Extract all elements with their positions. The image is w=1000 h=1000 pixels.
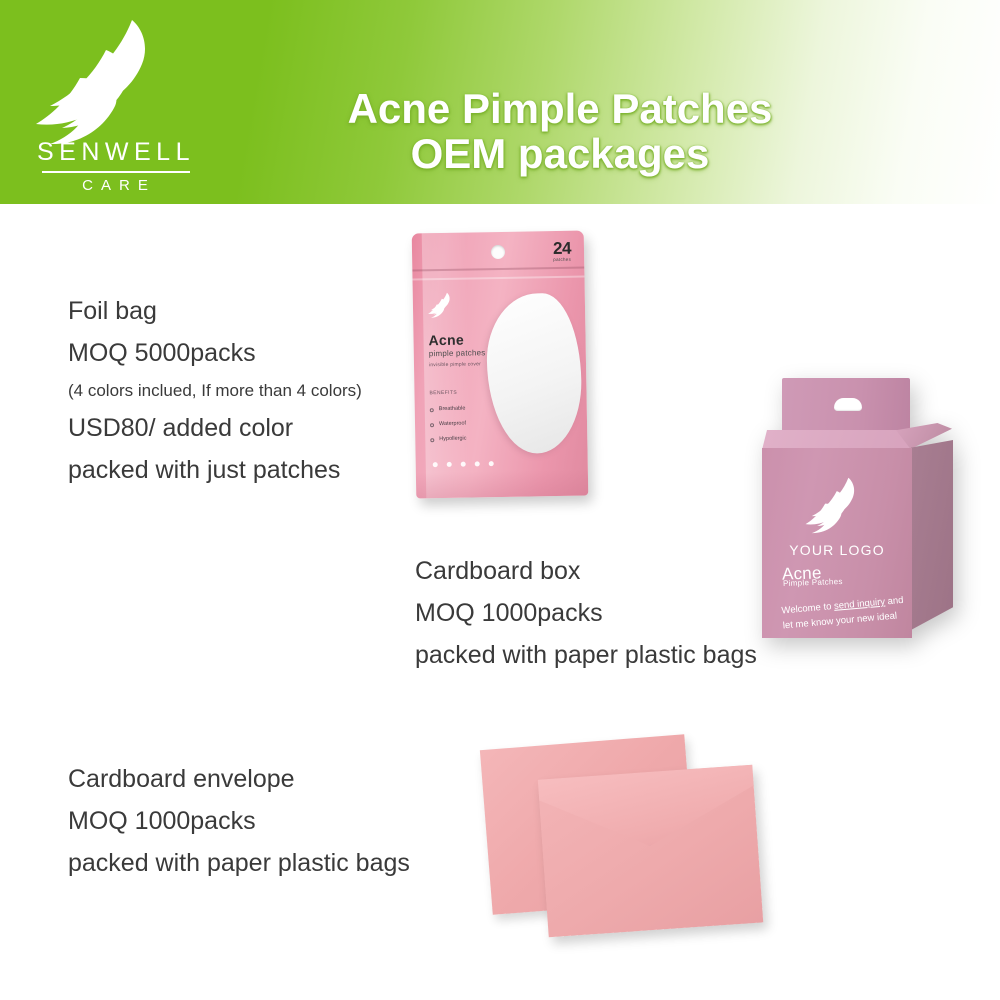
box-hang-tab xyxy=(782,378,910,436)
box-top-face xyxy=(762,430,917,450)
cardboard-box-product-image: YOUR LOGO Acne Pimple Patches Welcome to… xyxy=(748,378,964,646)
send-inquiry-link[interactable]: send inquiry xyxy=(834,596,886,611)
list-item: Foil bag xyxy=(68,290,362,332)
bullet-icon xyxy=(430,438,434,442)
list-item: MOQ 5000packs xyxy=(68,332,362,374)
list-item: packed with paper plastic bags xyxy=(68,842,410,884)
list-item: MOQ 1000packs xyxy=(68,800,410,842)
patch-dot-icon xyxy=(475,461,480,466)
page-title: Acne Pimple Patches OEM packages xyxy=(180,86,940,176)
brand-name: SENWELL xyxy=(36,140,196,165)
cardboard-envelope-product-image xyxy=(468,736,788,951)
patch-dot-icon xyxy=(489,461,494,466)
senwell-flame-logo-icon xyxy=(800,476,878,534)
hang-hole-icon xyxy=(491,245,505,259)
cardboard-envelope-description: Cardboard envelope MOQ 1000packs packed … xyxy=(68,758,410,884)
bullet-icon xyxy=(430,423,434,427)
list-item: USD80/ added color xyxy=(68,407,362,449)
box-inquiry-message: Welcome to send inquiry and let me know … xyxy=(781,593,909,634)
patch-dot-icon xyxy=(461,462,466,467)
cardboard-box-description: Cardboard box MOQ 1000packs packed with … xyxy=(415,550,757,676)
patch-count-unit: patches xyxy=(553,258,571,263)
box-front-face: YOUR LOGO Acne Pimple Patches Welcome to… xyxy=(762,448,912,638)
box-side-face xyxy=(911,440,953,630)
benefit-item: Breathable xyxy=(430,407,466,414)
box-subtitle: Pimple Patches xyxy=(783,578,843,588)
list-item: MOQ 1000packs xyxy=(415,592,757,634)
patch-dot-icon xyxy=(433,462,438,467)
foil-bag-product-image: 24 patches Acne pimple patches invisible… xyxy=(412,231,589,499)
list-item: packed with paper plastic bags xyxy=(415,634,757,676)
foil-bag-gusset xyxy=(416,469,588,498)
benefit-item: Hypollergic xyxy=(430,437,466,444)
bullet-icon xyxy=(430,408,434,412)
foil-bag-benefits-title: BENEFITS xyxy=(429,391,457,396)
pimple-patch-graphic xyxy=(486,293,583,455)
foil-bag-title: Acne xyxy=(428,333,464,348)
brand-tagline: CARE xyxy=(36,178,196,193)
logo-placeholder-text: YOUR LOGO xyxy=(762,543,912,557)
message-before: Welcome to xyxy=(781,601,834,617)
foil-bag-body: 24 patches Acne pimple patches invisible… xyxy=(412,231,589,499)
header-banner: SENWELL CARE Acne Pimple Patches OEM pac… xyxy=(0,0,1000,204)
foil-bag-tagline: invisible pimple cover xyxy=(429,362,481,368)
foil-bag-description: Foil bag MOQ 5000packs (4 colors inclued… xyxy=(68,290,362,491)
benefit-item: Waterproof xyxy=(430,422,466,429)
envelope-flap xyxy=(538,765,758,854)
list-item: (4 colors inclued, If more than 4 colors… xyxy=(68,374,362,407)
senwell-flame-logo-icon xyxy=(36,16,186,146)
patch-count-badge: 24 patches xyxy=(553,240,571,263)
patch-count-number: 24 xyxy=(553,240,571,257)
product-infographic: SENWELL CARE Acne Pimple Patches OEM pac… xyxy=(0,0,1000,1000)
list-item: Cardboard box xyxy=(415,550,757,592)
hang-hole-icon xyxy=(834,398,862,411)
envelope-front xyxy=(538,765,763,938)
brand-divider xyxy=(42,171,190,173)
patch-dot-icon xyxy=(447,462,452,467)
senwell-flame-logo-icon xyxy=(428,291,458,320)
list-item: Cardboard envelope xyxy=(68,758,410,800)
list-item: packed with just patches xyxy=(68,449,362,491)
brand-wordmark: SENWELL CARE xyxy=(36,140,196,193)
foil-bag-subtitle: pimple patches xyxy=(429,349,486,358)
